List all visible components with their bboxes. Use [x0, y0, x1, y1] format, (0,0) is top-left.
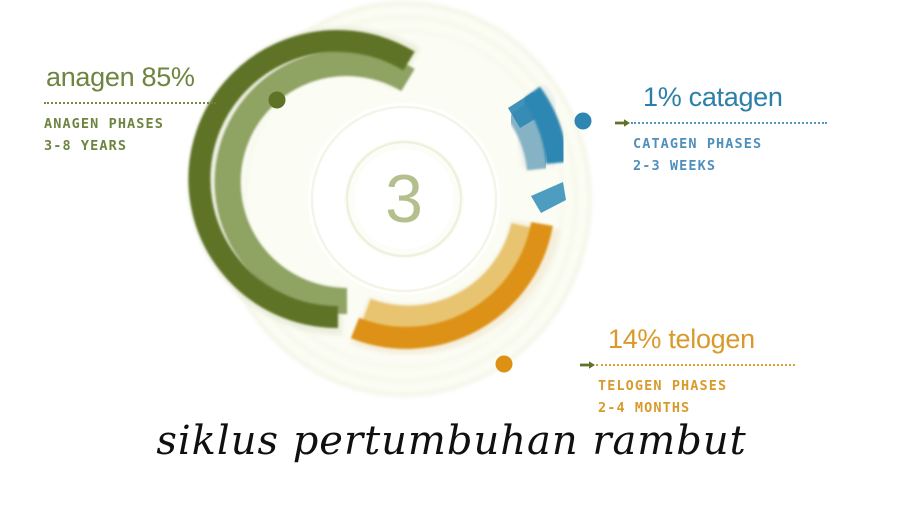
telogen-leader-line: [580, 360, 795, 370]
arrow-right-icon: [615, 118, 630, 128]
dot-catagen: [575, 113, 592, 130]
donut-core: 3: [298, 93, 510, 305]
anagen-leader-line: [44, 98, 230, 108]
catagen-dotted-line: [631, 122, 827, 124]
telogen-sub-line2: 2-4 MONTHS: [580, 398, 795, 420]
catagen-sub-line2: 2-3 WEEKS: [615, 156, 827, 178]
telogen-heading: 14% telogen: [580, 326, 795, 353]
catagen-heading: 1% catagen: [615, 84, 827, 111]
dot-telogen: [496, 356, 513, 373]
anagen-sub-line1: ANAGEN PHASES: [44, 114, 230, 136]
infographic-caption: siklus pertumbuhan rambut: [0, 418, 903, 464]
anagen-dotted-line: [44, 102, 216, 104]
anagen-heading: anagen 85%: [44, 64, 230, 91]
catagen-sub-line1: CATAGEN PHASES: [615, 134, 827, 156]
catagen-leader-line: [615, 118, 827, 128]
arrow-left-icon: [215, 98, 230, 108]
callout-telogen: 14% telogen TELOGEN PHASES 2-4 MONTHS: [580, 326, 795, 420]
telogen-sub-line1: TELOGEN PHASES: [580, 376, 795, 398]
anagen-sub-line2: 3-8 YEARS: [44, 136, 230, 158]
telogen-dotted-line: [596, 364, 795, 366]
infographic-canvas: 3 anagen 85% ANAGEN PHASES 3-8 YEARS 1% …: [0, 0, 903, 506]
callout-catagen: 1% catagen CATAGEN PHASES 2-3 WEEKS: [615, 84, 827, 178]
dot-anagen: [269, 92, 286, 109]
center-value: 3: [385, 161, 423, 237]
callout-anagen: anagen 85% ANAGEN PHASES 3-8 YEARS: [44, 64, 230, 158]
arrow-right-icon: [580, 360, 595, 370]
